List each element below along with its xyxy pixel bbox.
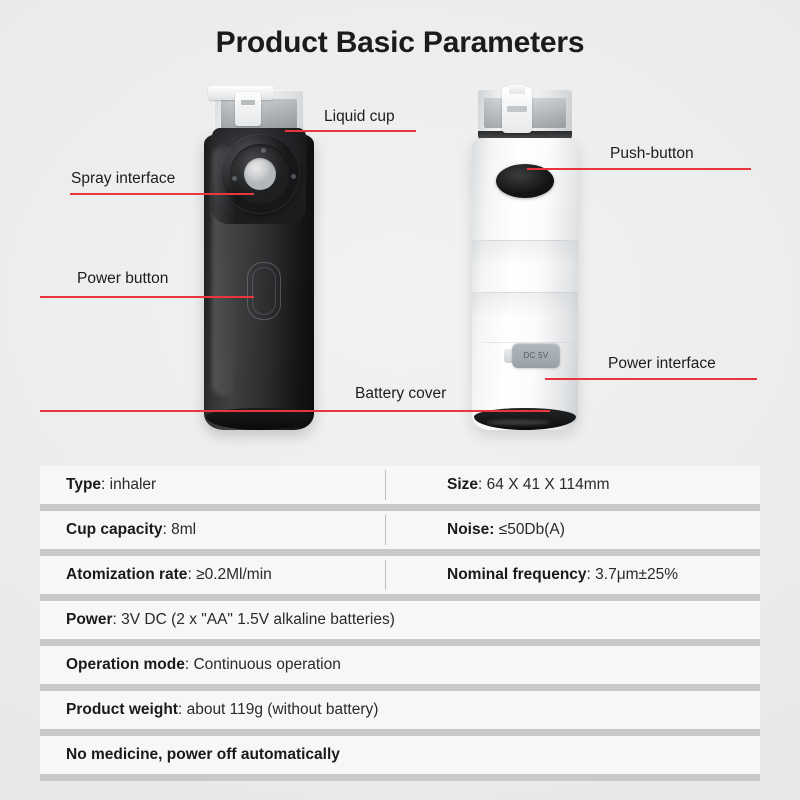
table-row: Type: inhaler Size: 64 X 41 X 114mm — [40, 466, 760, 504]
spec-cell: Product weight: about 119g (without batt… — [40, 701, 378, 719]
black-inhaler-device — [196, 90, 322, 430]
spec-value: 64 X 41 X 114mm — [487, 476, 610, 493]
spec-value: ≤50Db(A) — [499, 521, 565, 538]
spec-key: Noise: — [447, 521, 494, 538]
black-power-button-inner-ring — [252, 267, 276, 315]
white-power-interface-port: DC 5V — [512, 343, 560, 368]
spec-sep: : — [162, 521, 171, 538]
spec-key: Cup capacity — [66, 521, 162, 538]
page-title: Product Basic Parameters — [0, 26, 800, 60]
table-row: Cup capacity: 8ml Noise: ≤50Db(A) — [40, 511, 760, 549]
product-hero-illustration: DC 5V Liquid cup Spray interface Power b… — [0, 80, 800, 455]
callout-label-power-button: Power button — [77, 270, 168, 288]
callout-label-push-button: Push-button — [610, 145, 694, 163]
black-body-highlight — [212, 146, 236, 396]
callout-label-spray-interface: Spray interface — [71, 170, 175, 188]
column-divider — [385, 470, 386, 500]
table-row: No medicine, power off automatically — [40, 736, 760, 774]
black-dial-tick — [291, 174, 296, 179]
spec-key: Operation mode — [66, 656, 185, 673]
spec-sep: : — [101, 476, 110, 493]
black-cup-clip — [235, 92, 261, 126]
spec-cell: Cup capacity: 8ml — [40, 521, 411, 539]
power-port-label: DC 5V — [523, 351, 548, 360]
spec-cell: Atomization rate: ≥0.2Ml/min — [40, 566, 411, 584]
spec-key: Power — [66, 611, 113, 628]
white-body-seam — [472, 292, 578, 293]
spec-value: about 119g (without battery) — [187, 701, 379, 718]
product-parameters-page: Product Basic Parameters — [0, 0, 800, 800]
black-cup-clip-slot — [241, 100, 255, 105]
spec-sep: : — [178, 701, 187, 718]
white-body-band-shade — [472, 240, 578, 266]
leader-line-battery-cover — [40, 410, 550, 412]
spec-value: Continuous operation — [193, 656, 340, 673]
spec-cell: Power: 3V DC (2 x "AA" 1.5V alkaline bat… — [40, 611, 395, 629]
table-row: Power: 3V DC (2 x "AA" 1.5V alkaline bat… — [40, 601, 760, 639]
white-cup-clip-slot — [507, 106, 527, 112]
spec-cell: Type: inhaler — [40, 476, 411, 494]
spec-sep: : — [187, 566, 196, 583]
column-divider — [385, 515, 386, 545]
row-divider — [40, 639, 760, 646]
table-row: Product weight: about 119g (without batt… — [40, 691, 760, 729]
row-divider — [40, 729, 760, 736]
spec-sep: : — [587, 566, 596, 583]
spec-value: ≥0.2Ml/min — [196, 566, 272, 583]
spec-cell: Operation mode: Continuous operation — [40, 656, 341, 674]
row-divider — [40, 684, 760, 691]
spec-cell: Size: 64 X 41 X 114mm — [411, 476, 760, 494]
black-dial-tick — [261, 148, 266, 153]
spec-sep: : — [478, 476, 487, 493]
spec-key: Product weight — [66, 701, 178, 718]
leader-line-push-button — [527, 168, 751, 170]
leader-line-power-button — [40, 296, 254, 298]
specifications-table: Type: inhaler Size: 64 X 41 X 114mm Cup … — [40, 466, 760, 781]
table-row: Operation mode: Continuous operation — [40, 646, 760, 684]
spec-key: Size — [447, 476, 478, 493]
spec-key: No medicine, power off automatically — [66, 746, 340, 763]
row-divider — [40, 594, 760, 601]
spec-cell: Noise: ≤50Db(A) — [411, 521, 760, 539]
spec-key: Type — [66, 476, 101, 493]
spec-sep: : — [113, 611, 122, 628]
callout-label-liquid-cup: Liquid cup — [324, 108, 395, 126]
spec-value: 8ml — [171, 521, 196, 538]
spec-value: inhaler — [110, 476, 157, 493]
leader-line-liquid-cup — [285, 130, 416, 132]
white-base-highlight — [486, 420, 550, 425]
spec-key: Nominal frequency — [447, 566, 587, 583]
callout-label-battery-cover: Battery cover — [355, 385, 446, 403]
spec-cell: Nominal frequency: 3.7μm±25% — [411, 566, 760, 584]
table-row: Atomization rate: ≥0.2Ml/min Nominal fre… — [40, 556, 760, 594]
white-body-seam — [472, 240, 578, 241]
leader-line-power-interface — [545, 378, 757, 380]
black-spray-nozzle — [244, 158, 276, 190]
spec-key: Atomization rate — [66, 566, 187, 583]
spec-value: 3.7μm±25% — [595, 566, 678, 583]
row-divider — [40, 504, 760, 511]
white-cup-clip-tab — [509, 85, 525, 94]
column-divider — [385, 560, 386, 590]
leader-line-spray-interface — [70, 193, 254, 195]
white-body-band-shade — [472, 292, 578, 318]
spec-cell: No medicine, power off automatically — [40, 746, 340, 764]
row-divider — [40, 774, 760, 781]
row-divider — [40, 549, 760, 556]
spec-value: 3V DC (2 x "AA" 1.5V alkaline batteries) — [121, 611, 395, 628]
callout-label-power-interface: Power interface — [608, 355, 716, 373]
